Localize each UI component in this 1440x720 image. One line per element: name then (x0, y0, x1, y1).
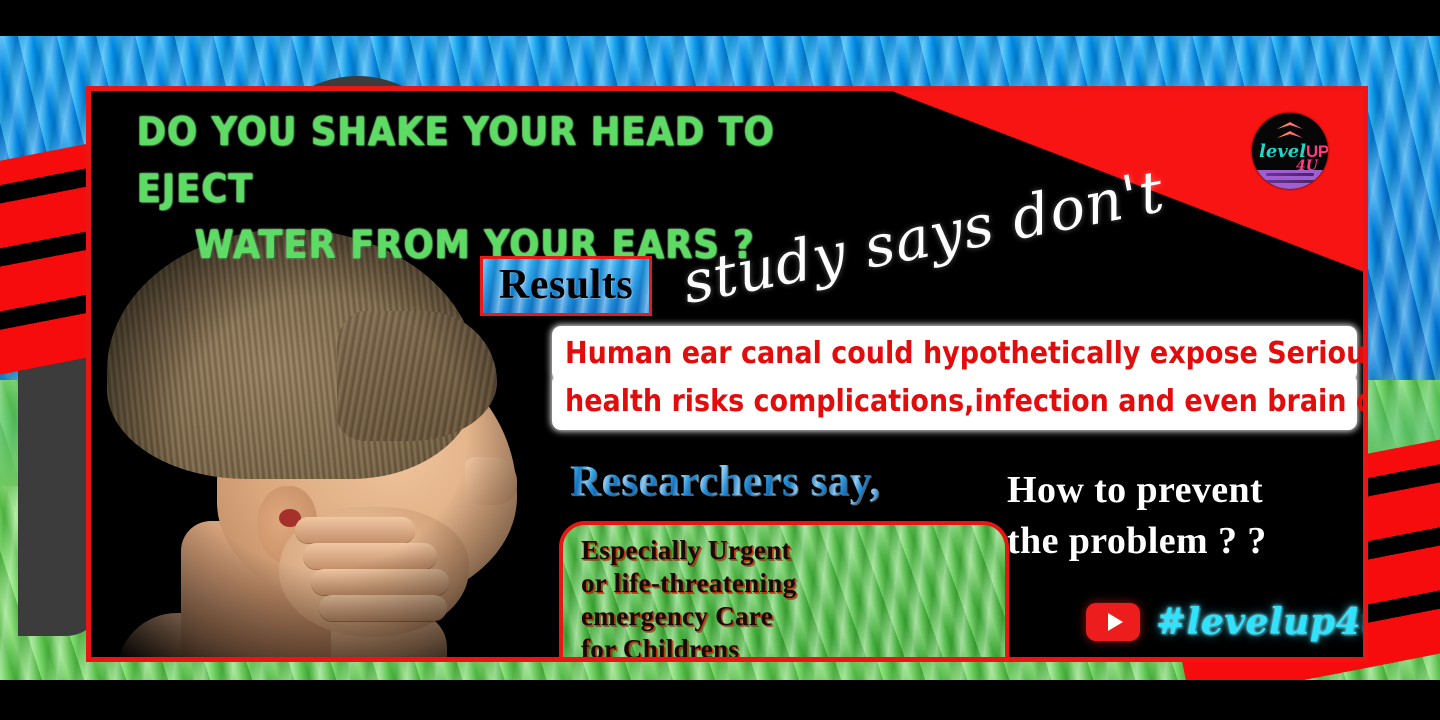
channel-hashtag[interactable]: #levelup4u (1156, 601, 1368, 643)
warning-text-block: Human ear canal could hypothetically exp… (557, 331, 1352, 428)
prevent-line-1: How to prevent (1007, 465, 1267, 516)
letterbox-top (0, 0, 1440, 36)
warning-line-1: Human ear canal could hypothetically exp… (557, 331, 1352, 376)
emergency-line-3: emergency Care (581, 600, 1005, 633)
youtube-play-icon[interactable] (1086, 603, 1140, 641)
levelup4u-logo[interactable]: levelUP 4U (1252, 113, 1328, 189)
warning-line-2: health risks complications,infection and… (557, 379, 1352, 424)
emergency-line-2: or life-threatening (581, 567, 1005, 600)
poster-canvas: DO YOU SHAKE YOUR HEAD TO EJECT WATER FR… (0, 0, 1440, 720)
researchers-say-label: Researchers say, (570, 457, 881, 506)
main-poster-panel: DO YOU SHAKE YOUR HEAD TO EJECT WATER FR… (86, 86, 1368, 662)
emergency-line-4: for Childrens (581, 633, 1005, 662)
results-badge: Results (480, 256, 652, 316)
prevent-line-2: the problem ? ? (1007, 516, 1267, 567)
logo-bottom-band (1252, 170, 1328, 189)
prevent-question: How to prevent the problem ? ? (1007, 465, 1267, 566)
emergency-care-box: Especially Urgent or life-threatening em… (559, 521, 1009, 662)
letterbox-bottom (0, 680, 1440, 720)
emergency-line-1: Especially Urgent (581, 534, 1005, 567)
headline-line-1: DO YOU SHAKE YOUR HEAD TO EJECT (133, 105, 893, 218)
social-row: #levelup4u (1086, 601, 1368, 643)
